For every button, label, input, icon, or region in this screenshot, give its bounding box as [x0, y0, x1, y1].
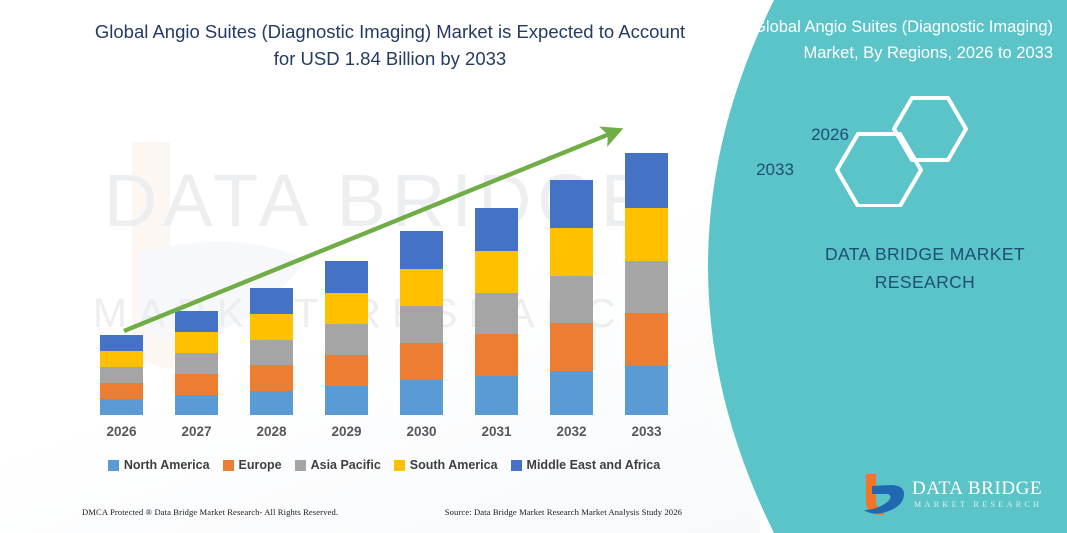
- bar-segment: [100, 335, 143, 351]
- hexagon-2033-label: 2033: [745, 160, 805, 180]
- plot-area: [84, 100, 684, 415]
- bar-segment: [250, 288, 293, 314]
- footer: DMCA Protected ® Data Bridge Market Rese…: [82, 507, 682, 517]
- legend-swatch-icon: [511, 460, 522, 471]
- bar-segment: [475, 251, 518, 293]
- bar-segment: [475, 334, 518, 376]
- bar-segment: [175, 332, 218, 353]
- bar-segment: [625, 153, 668, 208]
- bar-segment: [400, 380, 443, 415]
- bar-column: [625, 153, 668, 415]
- hexagon-2026-label: 2026: [800, 125, 860, 145]
- bar-segment: [475, 293, 518, 334]
- bar-segment: [550, 276, 593, 323]
- legend-item[interactable]: Asia Pacific: [295, 458, 381, 472]
- logo-title: DATA BRIDGE: [912, 478, 1042, 500]
- bar-segment: [625, 261, 668, 313]
- bar-segment: [625, 208, 668, 261]
- x-axis-tick: 2030: [400, 424, 443, 439]
- x-axis-tick: 2026: [100, 424, 143, 439]
- infographic-slide: DATA BRIDGE MARKET RESEARCH Global Angio…: [0, 0, 1067, 533]
- bar-column: [100, 335, 143, 415]
- bar-segment: [325, 293, 368, 324]
- legend-item[interactable]: North America: [108, 458, 210, 472]
- bar-segment: [325, 386, 368, 415]
- bar-column: [325, 261, 368, 415]
- bar-column: [250, 288, 293, 415]
- brand-panel-title: Global Angio Suites (Diagnostic Imaging)…: [718, 14, 1053, 66]
- legend-item[interactable]: South America: [394, 458, 498, 472]
- bar-segment: [325, 355, 368, 386]
- x-axis-tick: 2027: [175, 424, 218, 439]
- bar-segment: [400, 343, 443, 380]
- x-axis-tick: 2031: [475, 424, 518, 439]
- legend-swatch-icon: [223, 460, 234, 471]
- bar-segment: [475, 376, 518, 415]
- bar-segment: [100, 367, 143, 383]
- bar-segment: [550, 323, 593, 371]
- hexagon-2026-icon: [894, 98, 966, 160]
- x-axis: 20262027202820292030203120322033: [84, 418, 684, 444]
- bar-segment: [400, 231, 443, 269]
- bar-segment: [550, 371, 593, 415]
- bar-segment: [100, 351, 143, 367]
- legend-item[interactable]: Europe: [223, 458, 282, 472]
- bar-segment: [175, 395, 218, 415]
- company-logo: DATA BRIDGE MARKET RESEARCH: [860, 472, 1040, 520]
- x-axis-tick: 2029: [325, 424, 368, 439]
- bar-segment: [325, 261, 368, 293]
- bar-segment: [475, 208, 518, 251]
- legend-swatch-icon: [394, 460, 405, 471]
- chart-panel: DATA BRIDGE MARKET RESEARCH Global Angio…: [0, 0, 760, 533]
- bar-segment: [100, 399, 143, 415]
- x-axis-tick: 2028: [250, 424, 293, 439]
- legend-swatch-icon: [108, 460, 119, 471]
- legend-swatch-icon: [295, 460, 306, 471]
- bar-segment: [625, 313, 668, 366]
- x-axis-tick: 2032: [550, 424, 593, 439]
- bar-column: [475, 208, 518, 415]
- bar-segment: [550, 228, 593, 276]
- databridge-mark-icon: [860, 472, 908, 516]
- bar-column: [175, 311, 218, 415]
- x-axis-tick: 2033: [625, 424, 668, 439]
- stacked-bar-group: [84, 103, 684, 415]
- hexagon-group: [800, 92, 1000, 207]
- bar-segment: [175, 353, 218, 374]
- chart-legend: North AmericaEuropeAsia PacificSouth Ame…: [84, 454, 684, 476]
- bar-segment: [250, 340, 293, 365]
- bar-segment: [250, 365, 293, 391]
- legend-item[interactable]: Middle East and Africa: [511, 458, 661, 472]
- footer-source: Source: Data Bridge Market Research Mark…: [445, 507, 682, 517]
- bar-column: [400, 231, 443, 415]
- bar-segment: [400, 269, 443, 306]
- bar-segment: [250, 314, 293, 340]
- brand-name: DATA BRIDGE MARKET RESEARCH: [795, 240, 1055, 296]
- chart-title: Global Angio Suites (Diagnostic Imaging)…: [90, 18, 690, 72]
- bar-segment: [325, 324, 368, 355]
- legend-label: Middle East and Africa: [527, 458, 661, 472]
- footer-copyright: DMCA Protected ® Data Bridge Market Rese…: [82, 507, 338, 517]
- bar-segment: [400, 306, 443, 343]
- bar-segment: [625, 366, 668, 415]
- logo-subtitle: MARKET RESEARCH: [914, 500, 1042, 509]
- brand-panel: Global Angio Suites (Diagnostic Imaging)…: [700, 0, 1067, 533]
- legend-label: Europe: [239, 458, 282, 472]
- legend-label: Asia Pacific: [311, 458, 381, 472]
- bar-segment: [175, 374, 218, 395]
- bar-segment: [550, 180, 593, 228]
- legend-label: South America: [410, 458, 498, 472]
- bar-segment: [100, 383, 143, 399]
- bar-segment: [175, 311, 218, 332]
- legend-label: North America: [124, 458, 210, 472]
- bar-segment: [250, 391, 293, 415]
- bar-column: [550, 180, 593, 415]
